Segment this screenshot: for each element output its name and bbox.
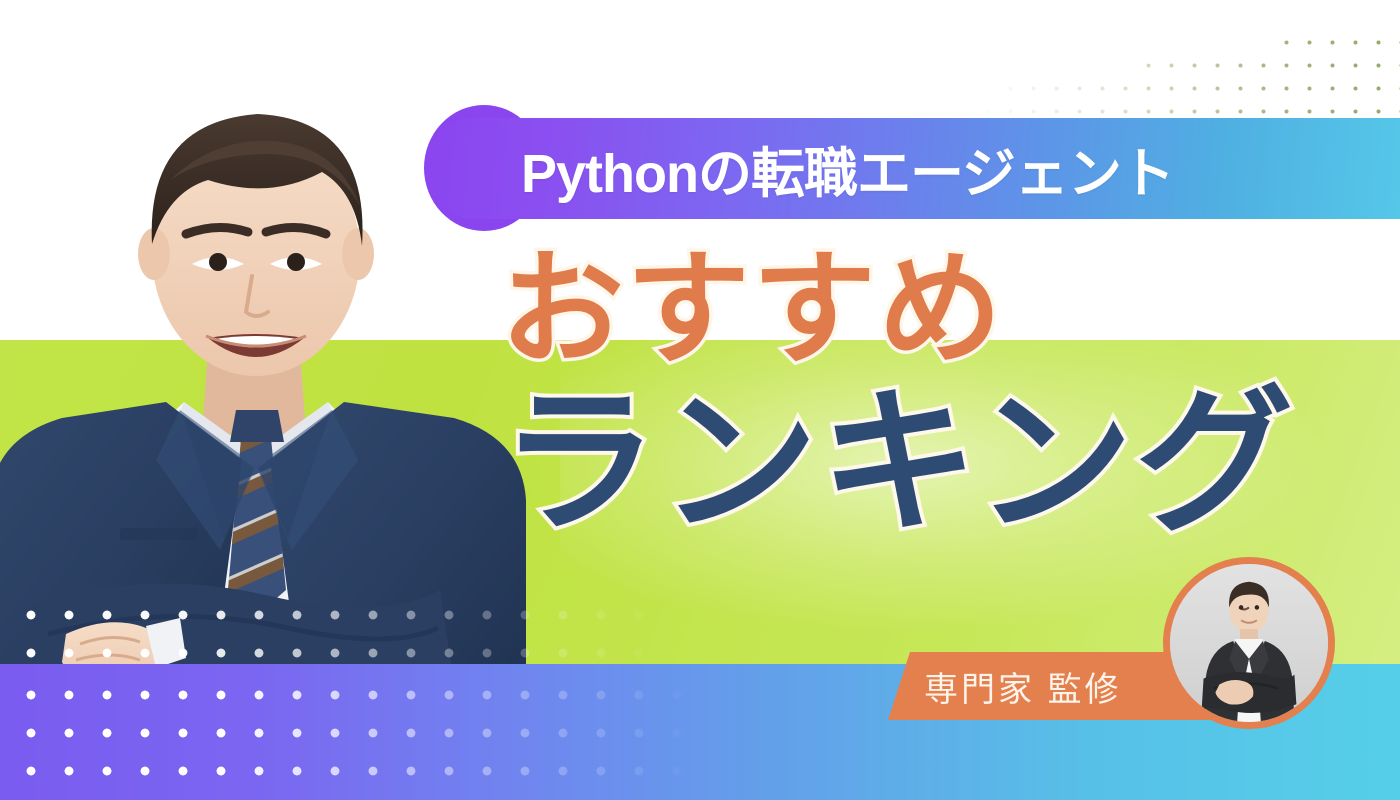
- headline-line-ranking: ランキング: [500, 384, 1360, 542]
- category-banner: Pythonの転職エージェント: [425, 118, 1400, 219]
- expert-avatar-image: [1170, 564, 1328, 722]
- expert-supervised-label: 専門家 監修: [924, 662, 1121, 711]
- dots-overlay-upper: [0, 588, 760, 668]
- category-banner-label: Pythonの転職エージェント: [521, 129, 1174, 208]
- headline-line-osusume: おすすめ: [500, 248, 1360, 372]
- bottom-band-dots: [0, 664, 760, 800]
- expert-avatar: [1163, 557, 1335, 729]
- headline-block: おすすめ ランキング: [500, 248, 1360, 542]
- hero-banner-canvas: Pythonの転職エージェント おすすめ ランキング 専門家 監修: [0, 0, 1400, 800]
